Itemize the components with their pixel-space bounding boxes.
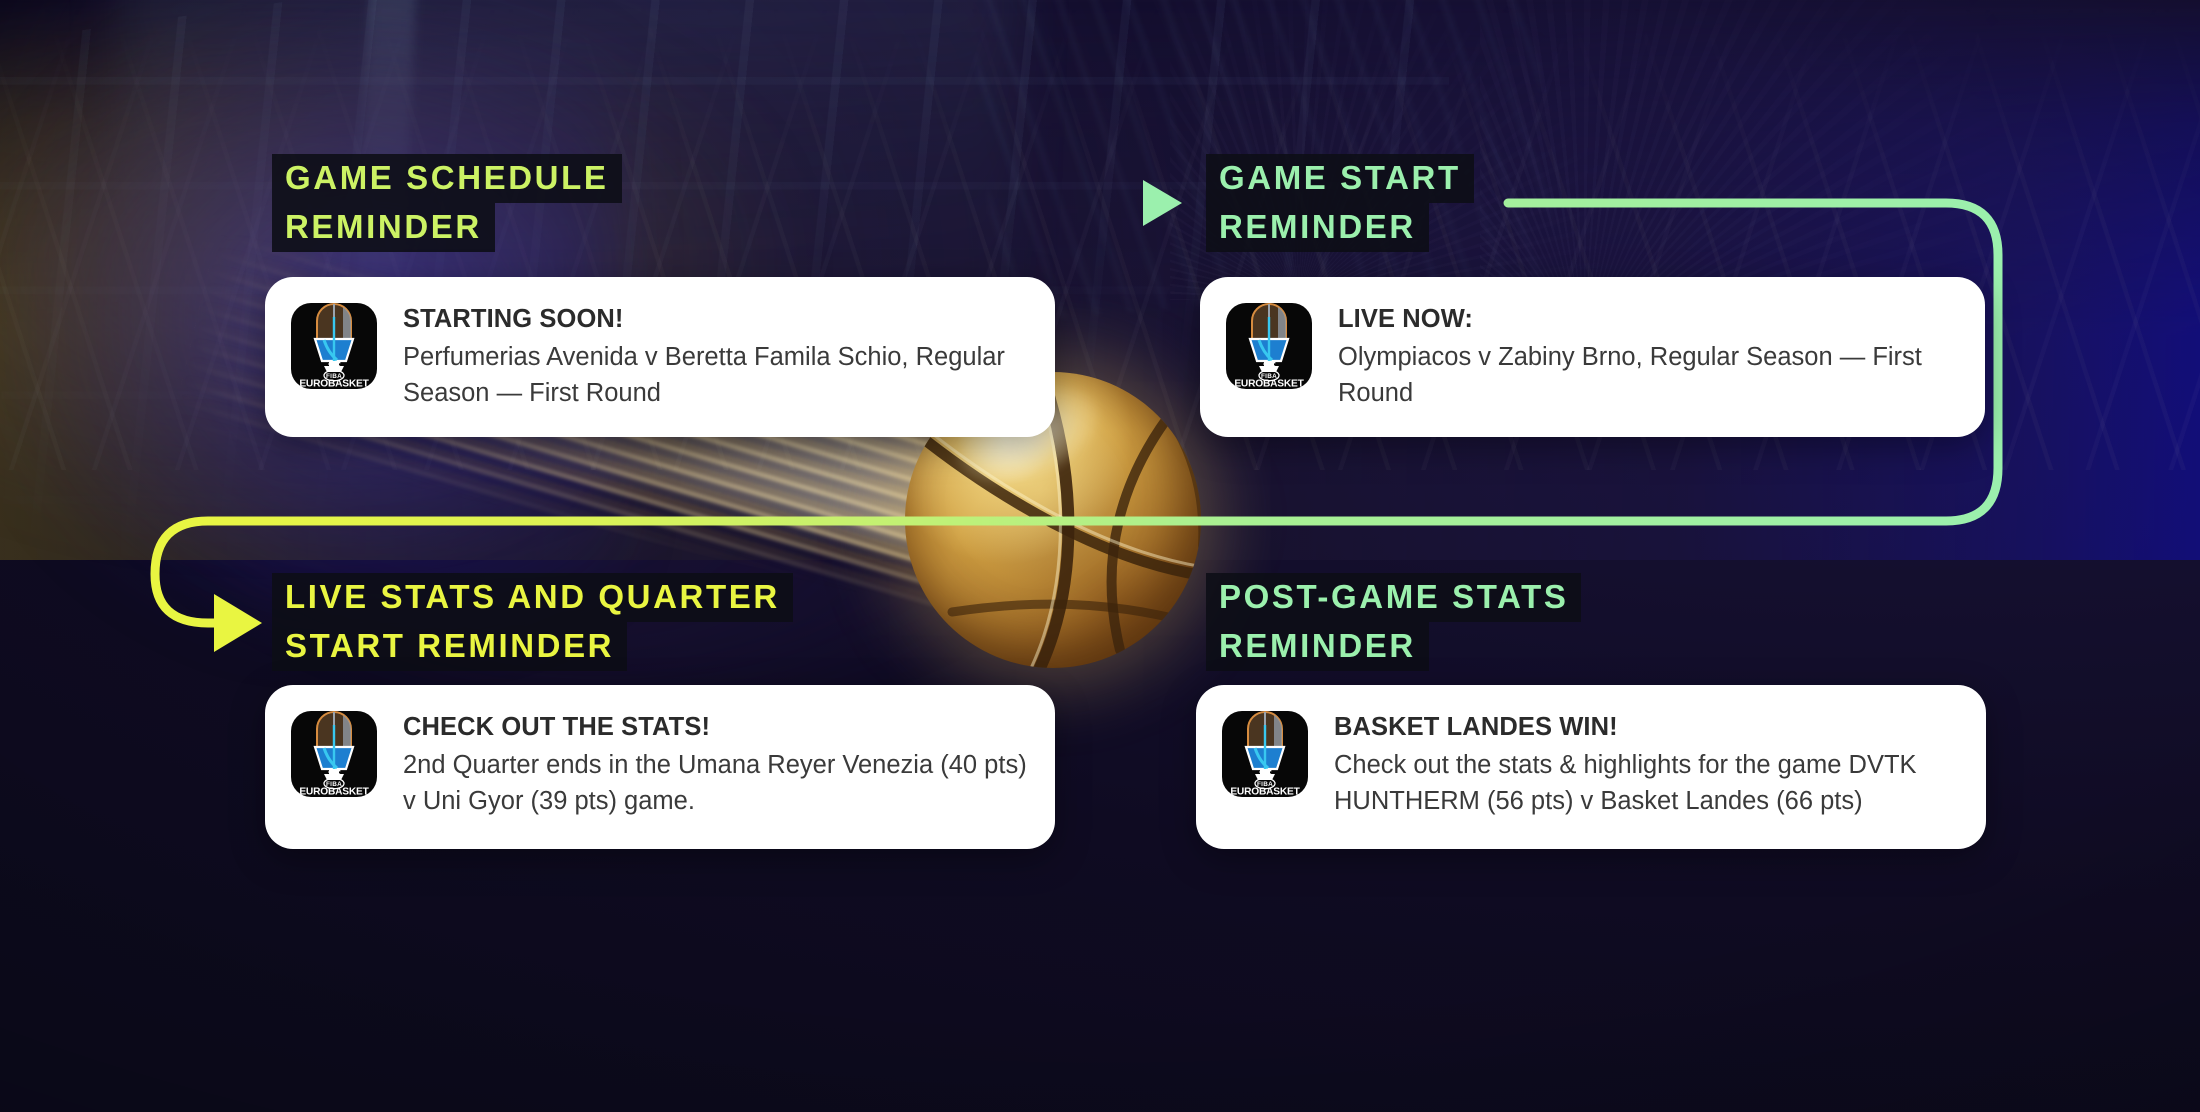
fiba-eurobasket-logo-icon: 25 FIBA EUROBASKET bbox=[291, 711, 377, 797]
svg-text:25: 25 bbox=[328, 767, 341, 782]
fiba-eurobasket-app-icon: 25 FIBA EUROBASKET bbox=[291, 711, 377, 797]
flow-label-line-1: LIVE STATS AND QUARTER bbox=[272, 573, 793, 622]
notification-text: 2nd Quarter ends in the Umana Reyer Vene… bbox=[403, 747, 1031, 819]
fiba-eurobasket-logo-icon: 25 FIBA EUROBASKET bbox=[291, 303, 377, 389]
svg-text:EUROBASKET: EUROBASKET bbox=[1230, 787, 1300, 798]
flow-label-line-2: START REMINDER bbox=[272, 622, 627, 671]
flow-label-post-game-stats-reminder: POST-GAME STATS REMINDER bbox=[1206, 573, 1581, 671]
notification-title: STARTING SOON! bbox=[403, 304, 1031, 334]
notification-card-starting-soon[interactable]: 25 FIBA EUROBASKET STARTING SOON! Perfum… bbox=[265, 277, 1055, 437]
svg-text:25: 25 bbox=[328, 359, 341, 374]
notification-text: Check out the stats & highlights for the… bbox=[1334, 747, 1962, 819]
fiba-eurobasket-logo-icon: 25 FIBA EUROBASKET bbox=[1222, 711, 1308, 797]
notification-card-basket-landes-win[interactable]: 25 FIBA EUROBASKET BASKET LANDES WIN! Ch… bbox=[1196, 685, 1986, 849]
flow-label-line-1: POST-GAME STATS bbox=[1206, 573, 1581, 622]
flow-label-live-stats-and-quarter-start-reminder: LIVE STATS AND QUARTER START REMINDER bbox=[272, 573, 793, 671]
notification-title: LIVE NOW: bbox=[1338, 304, 1961, 334]
notification-body: STARTING SOON! Perfumerias Avenida v Ber… bbox=[403, 303, 1031, 411]
fiba-eurobasket-app-icon: 25 FIBA EUROBASKET bbox=[1222, 711, 1308, 797]
svg-text:EUROBASKET: EUROBASKET bbox=[299, 379, 369, 390]
notification-body: LIVE NOW: Olympiacos v Zabiny Brno, Regu… bbox=[1338, 303, 1961, 411]
flow-label-game-start-reminder: GAME START REMINDER bbox=[1206, 154, 1474, 252]
notification-text: Olympiacos v Zabiny Brno, Regular Season… bbox=[1338, 339, 1961, 411]
flow-label-game-schedule-reminder: GAME SCHEDULE REMINDER bbox=[272, 154, 622, 252]
infographic-canvas: GAME SCHEDULE REMINDER GAME START REMIND… bbox=[0, 0, 2200, 1112]
svg-text:25: 25 bbox=[1259, 767, 1272, 782]
flow-label-line-1: GAME START bbox=[1206, 154, 1474, 203]
fiba-eurobasket-logo-icon: 25 FIBA EUROBASKET bbox=[1226, 303, 1312, 389]
notification-body: CHECK OUT THE STATS! 2nd Quarter ends in… bbox=[403, 711, 1031, 819]
svg-text:EUROBASKET: EUROBASKET bbox=[1234, 379, 1304, 390]
notification-text: Perfumerias Avenida v Beretta Famila Sch… bbox=[403, 339, 1031, 411]
svg-text:25: 25 bbox=[1263, 359, 1276, 374]
notification-card-live-now[interactable]: 25 FIBA EUROBASKET LIVE NOW: Olympiacos … bbox=[1200, 277, 1985, 437]
notification-title: BASKET LANDES WIN! bbox=[1334, 712, 1962, 742]
notification-title: CHECK OUT THE STATS! bbox=[403, 712, 1031, 742]
notification-card-check-out-the-stats[interactable]: 25 FIBA EUROBASKET CHECK OUT THE STATS! … bbox=[265, 685, 1055, 849]
notification-body: BASKET LANDES WIN! Check out the stats &… bbox=[1334, 711, 1962, 819]
fiba-eurobasket-app-icon: 25 FIBA EUROBASKET bbox=[1226, 303, 1312, 389]
flow-label-line-2: REMINDER bbox=[1206, 622, 1429, 671]
flow-label-line-2: REMINDER bbox=[272, 203, 495, 252]
svg-text:EUROBASKET: EUROBASKET bbox=[299, 787, 369, 798]
flow-label-line-2: REMINDER bbox=[1206, 203, 1429, 252]
fiba-eurobasket-app-icon: 25 FIBA EUROBASKET bbox=[291, 303, 377, 389]
flow-label-line-1: GAME SCHEDULE bbox=[272, 154, 622, 203]
